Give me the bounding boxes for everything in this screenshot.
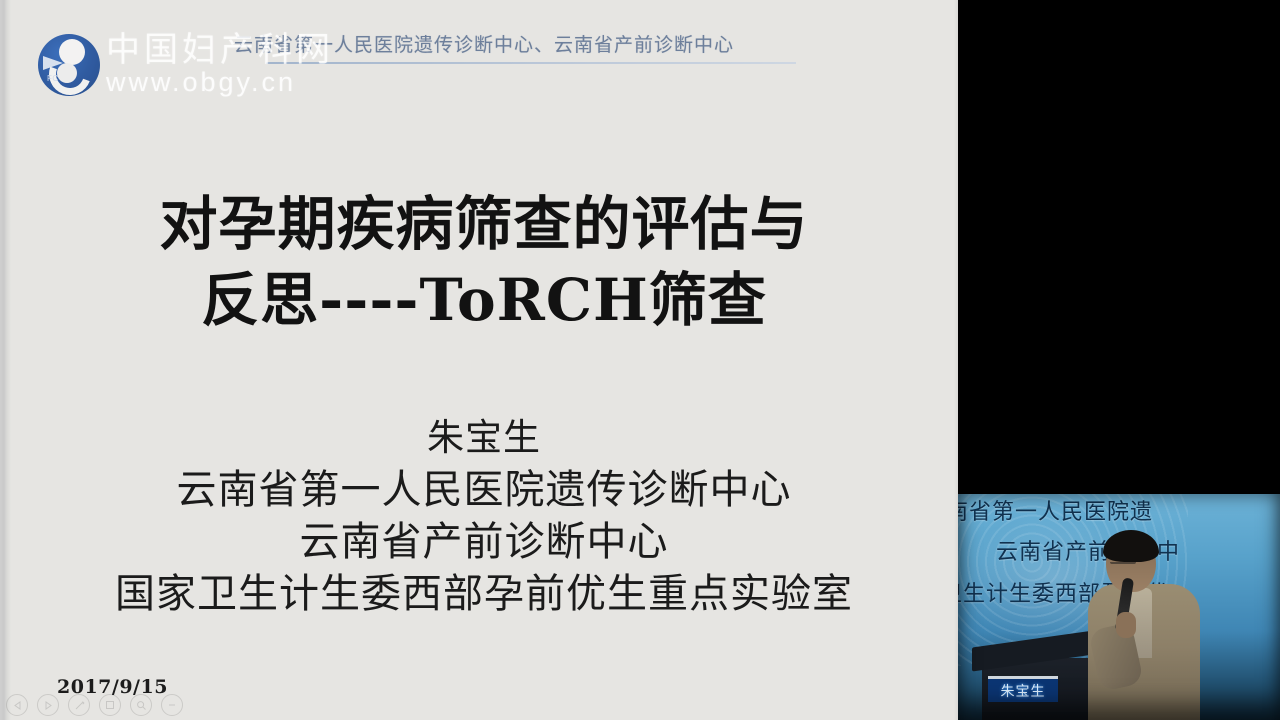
pen-icon[interactable] <box>68 694 90 716</box>
more-icon[interactable] <box>161 694 183 716</box>
play-icon[interactable] <box>37 694 59 716</box>
speaker-video-panel[interactable]: 南省第一人民医院遗 云南省产前诊断中 卫生计生委西部孕前优 朱宝生 <box>958 0 1280 720</box>
speaker-video[interactable]: 南省第一人民医院遗 云南省产前诊断中 卫生计生委西部孕前优 朱宝生 <box>958 486 1280 720</box>
speaker-glasses <box>1110 556 1136 564</box>
slide-affiliation-block: 朱宝生 云南省第一人民医院遗传诊断中心 云南省产前诊断中心 国家卫生计生委西部孕… <box>10 412 958 620</box>
podium-nameplate-text: 朱宝生 <box>1001 681 1046 701</box>
slide-header: 云南省第一人民医院遗传诊断中心、云南省产前诊断中心 <box>0 30 958 57</box>
presentation-viewer: 云南省第一人民医院遗传诊断中心、云南省产前诊断中心 FC 中国妇产科网 www.… <box>0 0 1280 720</box>
presentation-controls[interactable] <box>6 694 183 716</box>
slide-header-text: 云南省第一人民医院遗传诊断中心、云南省产前诊断中心 <box>234 34 734 56</box>
previous-slide-icon[interactable] <box>6 694 28 716</box>
slide-title: 对孕期疾病筛查的评估与 反思----ToRCH筛查 <box>10 186 958 338</box>
logo-wing-shape <box>43 56 63 70</box>
slide-title-line-1: 对孕期疾病筛查的评估与 <box>10 186 958 262</box>
watermark-url: www.obgy.cn <box>106 69 334 97</box>
slide-title-line-2: 反思----ToRCH筛查 <box>10 262 958 338</box>
affiliation-line-3: 国家卫生计生委西部孕前优生重点实验室 <box>10 568 958 620</box>
projected-text-line-1: 南省第一人民医院遗 <box>958 494 1153 526</box>
logo-dot-lower <box>57 63 77 83</box>
slide-header-divider <box>266 62 796 64</box>
affiliation-line-1: 云南省第一人民医院遗传诊断中心 <box>10 464 958 516</box>
zoom-icon[interactable] <box>130 694 152 716</box>
video-letterbox-top <box>958 486 1280 494</box>
presenter-name: 朱宝生 <box>10 412 958 464</box>
slide-canvas[interactable]: 云南省第一人民医院遗传诊断中心、云南省产前诊断中心 FC 中国妇产科网 www.… <box>0 0 958 720</box>
menu-icon[interactable] <box>99 694 121 716</box>
speaker-figure <box>1086 534 1204 720</box>
affiliation-line-2: 云南省产前诊断中心 <box>10 516 958 568</box>
logo-letters: FC <box>47 74 59 83</box>
speaker-hand <box>1116 612 1136 638</box>
podium-nameplate: 朱宝生 <box>988 676 1058 702</box>
